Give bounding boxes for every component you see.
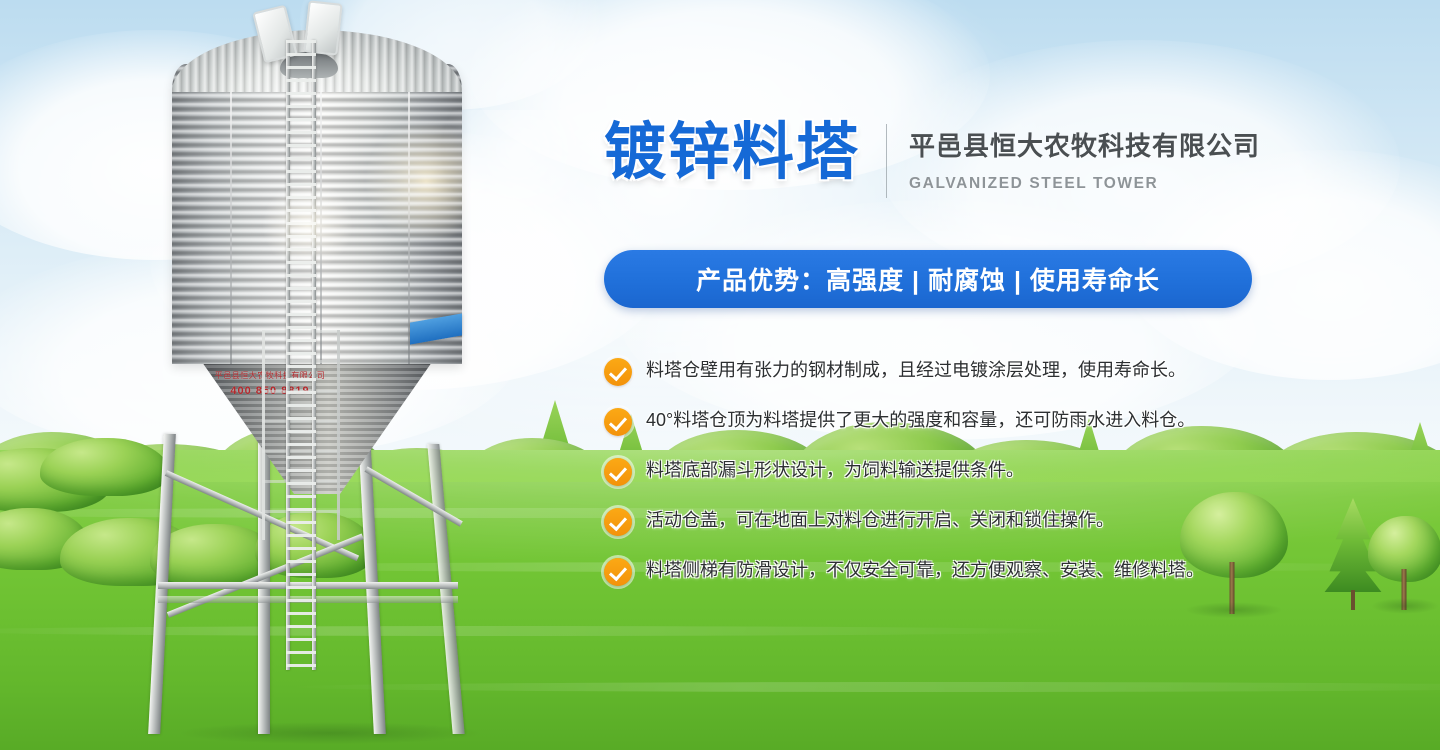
brand-block: 平邑县恒大农牧科技有限公司 GALVANIZED STEEL TOWER (909, 118, 1260, 193)
silo-body (172, 64, 462, 364)
feature-item: 料塔侧梯有防滑设计，不仅安全可靠，还方便观察、安装、维修料塔。 (604, 557, 1424, 607)
feature-text: 40°料塔仓顶为料塔提供了更大的强度和容量，还可防雨水进入料仓。 (646, 407, 1195, 432)
silo-brace (365, 466, 463, 526)
product-image-silo: 平邑县恒大农牧科技有限公司 400 850 8819 (110, 0, 510, 750)
company-name: 平邑县恒大农牧科技有限公司 (909, 126, 1260, 163)
feature-text: 料塔底部漏斗形状设计，为饲料输送提供条件。 (646, 457, 1024, 482)
product-subtitle-en: GALVANIZED STEEL TOWER (909, 175, 1260, 193)
feature-item: 40°料塔仓顶为料塔提供了更大的强度和容量，还可防雨水进入料仓。 (604, 407, 1424, 457)
feature-item: 活动仓盖，可在地面上对料仓进行开启、关闭和锁住操作。 (604, 507, 1424, 557)
feature-text: 料塔侧梯有防滑设计，不仅安全可靠，还方便观察、安装、维修料塔。 (646, 557, 1204, 582)
feature-text: 活动仓盖，可在地面上对料仓进行开启、关闭和锁住操作。 (646, 507, 1114, 532)
check-icon (604, 358, 632, 386)
advantages-pill-label: 产品优势：高强度 | 耐腐蚀 | 使用寿命长 (696, 261, 1160, 297)
title-divider (886, 124, 887, 198)
check-icon (604, 408, 632, 436)
feature-item: 料塔底部漏斗形状设计，为饲料输送提供条件。 (604, 457, 1424, 507)
check-icon (604, 508, 632, 536)
check-icon (604, 458, 632, 486)
feature-text: 料塔仓壁用有张力的钢材制成，且经过电镀涂层处理，使用寿命长。 (646, 357, 1186, 382)
silo-ground-shadow (180, 722, 480, 744)
check-icon (604, 558, 632, 586)
silo-leg (427, 444, 464, 734)
feature-list: 料塔仓壁用有张力的钢材制成，且经过电镀涂层处理，使用寿命长。 40°料塔仓顶为料… (604, 357, 1424, 607)
hero-banner: 平邑县恒大农牧科技有限公司 400 850 8819 镀锌料塔 平邑 (0, 0, 1440, 750)
silo-ladder (286, 40, 316, 670)
banner-content: 镀锌料塔 平邑县恒大农牧科技有限公司 GALVANIZED STEEL TOWE… (602, 0, 1432, 750)
advantages-pill: 产品优势：高强度 | 耐腐蚀 | 使用寿命长 (604, 250, 1252, 308)
headline-block: 镀锌料塔 平邑县恒大农牧科技有限公司 GALVANIZED STEEL TOWE… (604, 118, 1260, 198)
page-title: 镀锌料塔 (604, 118, 860, 184)
feature-item: 料塔仓壁用有张力的钢材制成，且经过电镀涂层处理，使用寿命长。 (604, 357, 1424, 407)
